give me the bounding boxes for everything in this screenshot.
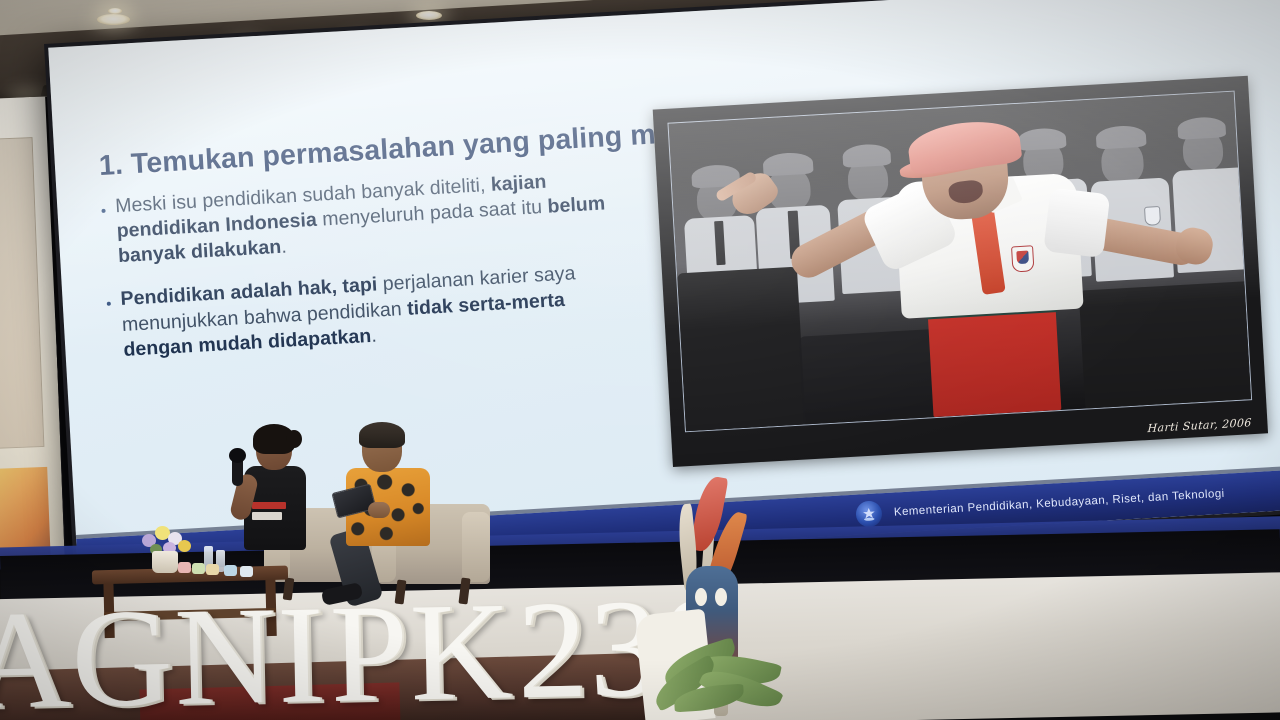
snack-item-3: [206, 564, 219, 575]
photo-credit: Harti Sutar, 2006: [1147, 416, 1252, 435]
stage-front-skirt: [139, 682, 400, 720]
ceiling-downlight-7: [108, 8, 122, 14]
tut-wuri-handayani-logo: [855, 500, 882, 527]
snack-item-5: [240, 566, 253, 577]
side-banner-inner-art: [0, 137, 44, 449]
snack-item-1: [178, 562, 191, 573]
slide-bullet-2: Pendidikan adalah hak, tapi perjalanan k…: [106, 259, 629, 364]
ceiling-downlight-6: [416, 11, 442, 20]
panelist-in-batik-shirt: [340, 426, 436, 576]
slide-photo: [667, 91, 1252, 433]
decorative-cutout-prop: [640, 470, 820, 720]
snack-item-2: [192, 563, 205, 574]
snack-item-4: [224, 565, 237, 576]
bullet-marker-icon: [101, 209, 105, 213]
ministry-name: Kementerian Pendidikan, Kebudayaan, Rise…: [894, 488, 1225, 519]
armchair-right-arm-right: [462, 512, 490, 582]
slide-bullet-text: Pendidikan adalah hak, tapi perjalanan k…: [120, 259, 629, 363]
flower-vase: [152, 551, 178, 573]
slide-bullet-text: Meski isu pendidikan sudah banyak diteli…: [115, 166, 624, 270]
coffee-table-leg-left: [103, 576, 115, 638]
slide-photo-frame: Harti Sutar, 2006: [653, 76, 1268, 467]
slide-bullet-list: Meski isu pendidikan sudah banyak diteli…: [101, 166, 631, 382]
speaker-with-microphone: [236, 428, 310, 550]
tshirt-print: [252, 502, 286, 522]
slide-bullet-1: Meski isu pendidikan sudah banyak diteli…: [101, 166, 624, 271]
ceiling-downlight-1: [97, 14, 130, 25]
conference-stage-scene: 1. Temukan permasalahan yang paling meng…: [0, 0, 1280, 720]
coffee-table-leg-right: [265, 574, 277, 636]
bullet-marker-icon: [107, 302, 111, 306]
microphone-head: [229, 448, 246, 463]
